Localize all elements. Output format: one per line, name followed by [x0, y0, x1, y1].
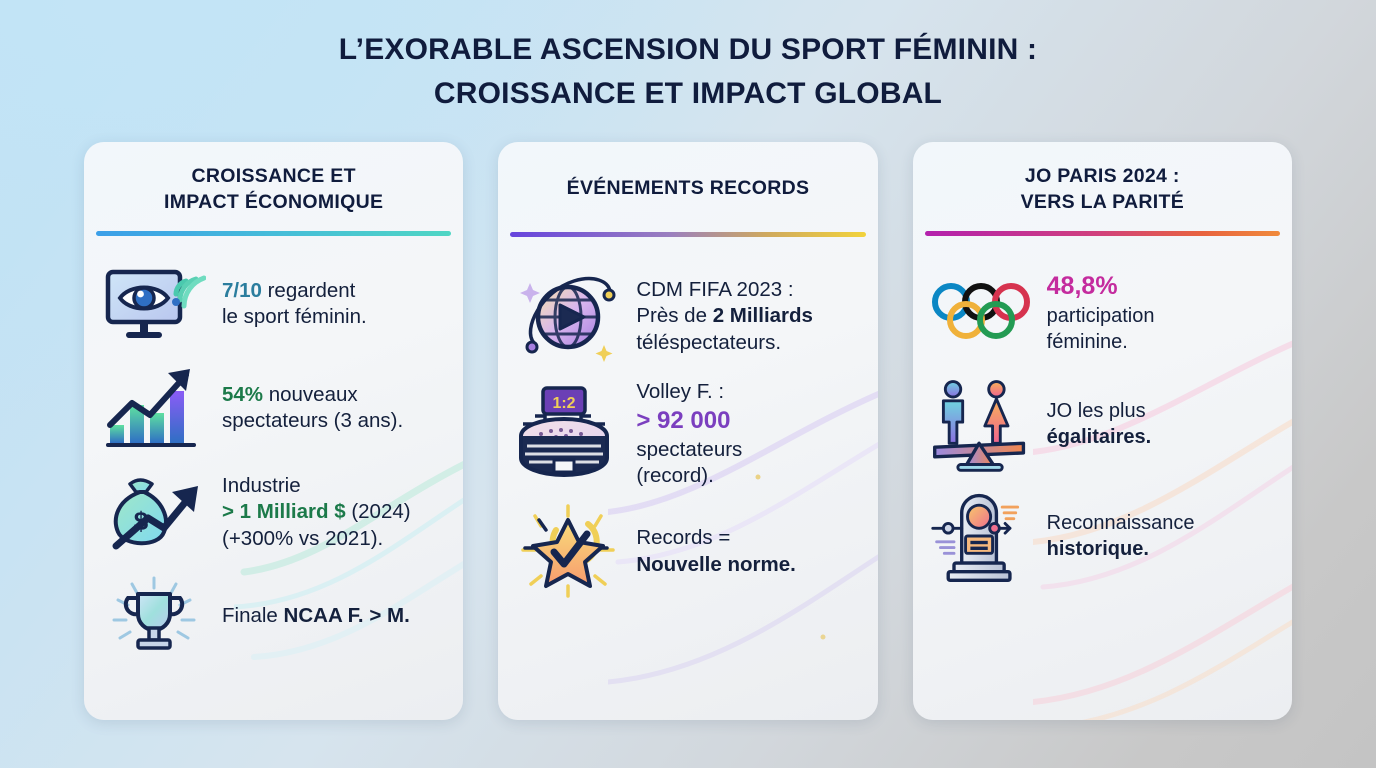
stat-bold: Nouvelle norme.: [636, 553, 796, 576]
stat-row: 7/10 regardent le sport féminin.: [98, 252, 447, 356]
stat-row: Finale NCAA F. > M.: [98, 564, 447, 668]
stat-text: Records = Nouvelle norme.: [636, 525, 796, 578]
svg-text:1:2: 1:2: [553, 395, 576, 412]
stat-row: Records = Nouvelle norme.: [512, 494, 861, 610]
stat-text: 48,8% participation féminine.: [1047, 270, 1155, 355]
card-1-header: CROISSANCE ET IMPACT ÉCONOMIQUE: [84, 142, 463, 215]
stat-highlight: 48,8%: [1047, 272, 1118, 300]
stat-row: CDM FIFA 2023 : Près de 2 Milliards télé…: [512, 259, 861, 375]
card-1-rows: 7/10 regardent le sport féminin.: [84, 236, 463, 720]
stat-line-3: (+300% vs 2021).: [222, 527, 383, 550]
page-title-line-2: CROISSANCE ET IMPACT GLOBAL: [0, 72, 1376, 116]
stat-bold: historique.: [1047, 538, 1149, 560]
stat-text: Finale NCAA F. > M.: [222, 603, 410, 630]
stat-text-after: nouveaux: [263, 383, 358, 406]
stat-text-after: (2024): [346, 500, 411, 523]
stat-text: CDM FIFA 2023 : Près de 2 Milliards télé…: [636, 277, 813, 357]
card-croissance-impact-economique: CROISSANCE ET IMPACT ÉCONOMIQUE: [84, 142, 463, 720]
stat-row: $ Industrie > 1 Milliard $ (2024) (+300%…: [98, 460, 447, 564]
page-title: L’EXORABLE ASCENSION DU SPORT FÉMININ : …: [0, 0, 1376, 116]
card-jo-paris-2024-parite: JO PARIS 2024 : VERS LA PARITÉ: [913, 142, 1292, 720]
card-3-heading-line-1: JO PARIS 2024 :: [933, 164, 1272, 190]
stat-row: 1:2: [512, 375, 861, 494]
card-1-heading-line-2: IMPACT ÉCONOMIQUE: [104, 190, 443, 216]
cards-row: CROISSANCE ET IMPACT ÉCONOMIQUE: [0, 142, 1376, 720]
tv-eye-wifi-icon: [98, 256, 210, 352]
card-2-rows: CDM FIFA 2023 : Près de 2 Milliards télé…: [498, 237, 877, 720]
stat-line-1: JO les plus: [1047, 400, 1146, 422]
star-check-icon: [512, 504, 624, 600]
trophy-icon: [98, 568, 210, 664]
stat-bold: NCAA F. > M.: [284, 604, 410, 627]
card-3-heading-line-2: VERS LA PARITÉ: [933, 190, 1272, 216]
card-3-header: JO PARIS 2024 : VERS LA PARITÉ: [913, 142, 1292, 215]
stat-text-after: regardent: [262, 279, 355, 302]
stat-line-3: féminine.: [1047, 331, 1128, 353]
stat-line-1: Reconnaissance: [1047, 512, 1195, 534]
stat-line-1: CDM FIFA 2023 :: [636, 278, 793, 301]
stat-text-before: Près de: [636, 304, 712, 327]
stat-bold: égalitaires.: [1047, 426, 1152, 448]
stat-row: 54% nouveaux spectateurs (3 ans).: [98, 356, 447, 460]
stat-highlight: 54%: [222, 383, 263, 406]
stat-text: Reconnaissance historique.: [1047, 510, 1195, 562]
balance-scale-gender-icon: [927, 376, 1035, 472]
card-2-heading-line-1: ÉVÉNEMENTS RECORDS: [518, 176, 857, 202]
stat-line-1: Records =: [636, 526, 730, 549]
stadium-scoreboard-icon: 1:2: [512, 386, 624, 482]
stat-line-1: Volley F. :: [636, 380, 724, 403]
stat-highlight: 7/10: [222, 279, 262, 302]
money-bag-arrow-icon: $: [98, 464, 210, 560]
globe-play-orbit-icon: [512, 269, 624, 365]
stat-line-2: participation: [1047, 305, 1155, 327]
stat-line-4: (record).: [636, 464, 713, 487]
stat-line-3: téléspectateurs.: [636, 331, 781, 354]
stat-text: Volley F. : > 92 000 spectateurs (record…: [636, 379, 742, 490]
stat-text: JO les plus égalitaires.: [1047, 398, 1152, 450]
bar-chart-growth-icon: [98, 360, 210, 456]
stat-line-1: Industrie: [222, 474, 301, 497]
stat-row: Reconnaissance historique.: [927, 480, 1276, 592]
stat-row: JO les plus égalitaires.: [927, 368, 1276, 480]
page-title-line-1: L’EXORABLE ASCENSION DU SPORT FÉMININ :: [0, 28, 1376, 72]
card-1-heading-line-1: CROISSANCE ET: [104, 164, 443, 190]
olympic-rings-icon: [927, 264, 1035, 360]
stat-text: 7/10 regardent le sport féminin.: [222, 278, 367, 331]
stat-text-before: Finale: [222, 604, 284, 627]
stat-text: 54% nouveaux spectateurs (3 ans).: [222, 382, 403, 435]
stat-bold: 2 Milliards: [713, 304, 813, 327]
card-2-header: ÉVÉNEMENTS RECORDS: [498, 142, 877, 202]
stat-line-2: le sport féminin.: [222, 305, 367, 328]
stat-text: Industrie > 1 Milliard $ (2024) (+300% v…: [222, 473, 411, 553]
card-evenements-records: ÉVÉNEMENTS RECORDS: [498, 142, 877, 720]
card-3-rows: 48,8% participation féminine.: [913, 236, 1292, 720]
stat-highlight: > 1 Milliard $: [222, 500, 346, 523]
stat-row: 48,8% participation féminine.: [927, 256, 1276, 368]
monument-recognition-icon: [927, 488, 1035, 584]
stat-highlight: > 92 000: [636, 407, 730, 434]
stat-line-3: spectateurs: [636, 438, 742, 461]
stat-line-2: spectateurs (3 ans).: [222, 409, 403, 432]
